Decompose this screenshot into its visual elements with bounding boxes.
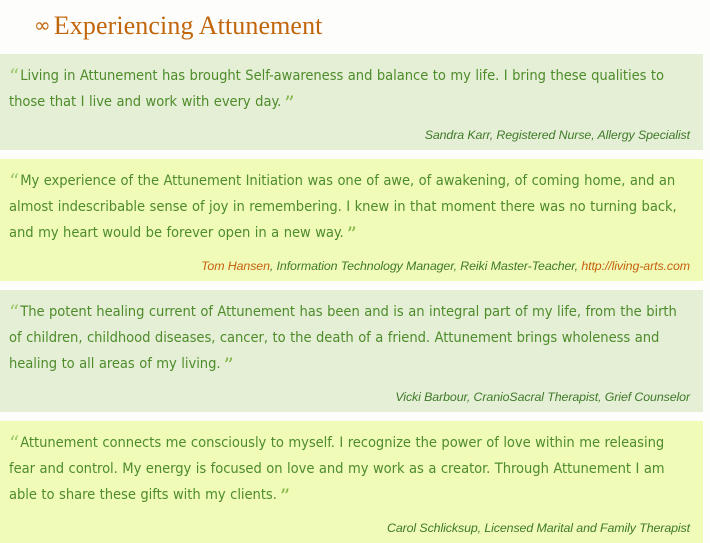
- testimonial-quote-text: My experience of the Attunement Initiati…: [9, 172, 677, 241]
- testimonial-attribution: Tom Hansen, Information Technology Manag…: [9, 259, 690, 274]
- testimonial-quote: “The potent healing current of Attunemen…: [9, 299, 690, 377]
- attribution-role: , Information Technology Manager, Reiki …: [270, 259, 581, 273]
- close-quote-icon: ”: [223, 353, 232, 377]
- page-title: ∞Experiencing Attunement: [0, 0, 710, 41]
- open-quote-icon: “: [9, 64, 18, 88]
- testimonial-quote: “My experience of the Attunement Initiat…: [9, 168, 690, 246]
- testimonial-quote-text: Living in Attunement has brought Self-aw…: [9, 67, 664, 110]
- testimonial-item: “My experience of the Attunement Initiat…: [0, 159, 703, 281]
- testimonial-quote-text: The potent healing current of Attunement…: [9, 303, 677, 372]
- page-title-text: Experiencing Attunement: [54, 11, 323, 40]
- testimonial-attribution: Carol Schlicksup, Licensed Marital and F…: [9, 521, 690, 536]
- testimonials-page: ∞Experiencing Attunement “Living in Attu…: [0, 0, 710, 510]
- testimonial-quote: “Living in Attunement has brought Self-a…: [9, 63, 690, 115]
- testimonial-list: “Living in Attunement has brought Self-a…: [0, 54, 710, 543]
- testimonial-quote: “Attunement connects me consciously to m…: [9, 430, 690, 508]
- open-quote-icon: “: [9, 300, 18, 324]
- attribution-name: Vicki Barbour: [395, 390, 466, 404]
- close-quote-icon: ”: [347, 222, 356, 246]
- testimonial-item: “Living in Attunement has brought Self-a…: [0, 54, 703, 150]
- close-quote-icon: ”: [280, 484, 289, 508]
- attribution-name: Tom Hansen: [201, 259, 270, 273]
- open-quote-icon: “: [9, 431, 18, 455]
- infinity-icon: ∞: [34, 13, 51, 37]
- open-quote-icon: “: [9, 169, 18, 193]
- attribution-name: Carol Schlicksup: [387, 521, 478, 535]
- attribution-link[interactable]: http://living-arts.com: [581, 259, 690, 273]
- testimonial-attribution: Sandra Karr, Registered Nurse, Allergy S…: [9, 128, 690, 143]
- attribution-role: , CranioSacral Therapist, Grief Counselo…: [467, 390, 690, 404]
- testimonial-attribution: Vicki Barbour, CranioSacral Therapist, G…: [9, 390, 690, 405]
- attribution-role: , Licensed Marital and Family Therapist: [478, 521, 690, 535]
- testimonial-item: “The potent healing current of Attunemen…: [0, 290, 703, 412]
- testimonial-quote-text: Attunement connects me consciously to my…: [9, 434, 665, 503]
- attribution-name: Sandra Karr: [425, 128, 490, 142]
- close-quote-icon: ”: [284, 91, 293, 115]
- attribution-role: , Registered Nurse, Allergy Specialist: [490, 128, 690, 142]
- testimonial-item: “Attunement connects me consciously to m…: [0, 421, 703, 543]
